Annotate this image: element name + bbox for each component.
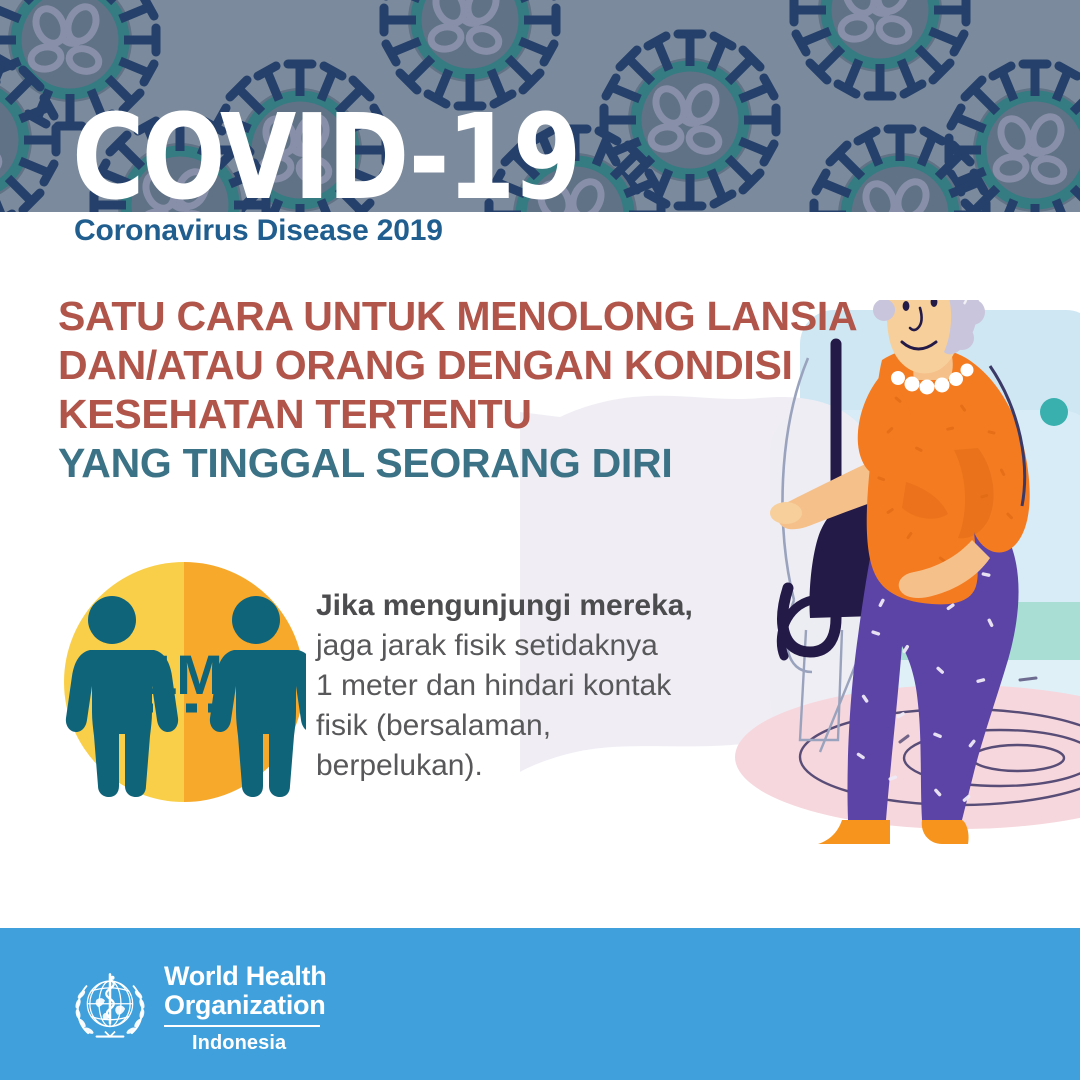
who-country: Indonesia (164, 1032, 326, 1054)
headline-line-4: YANG TINGGAL SEORANG DIRI (58, 439, 918, 488)
who-divider (164, 1025, 320, 1027)
physical-distancing-icon: 1M (62, 560, 306, 804)
body-line-3: 1 meter dan hindari kontak (316, 666, 746, 706)
headline-block: SATU CARA UNTUK MENOLONG LANSIA DAN/ATAU… (58, 292, 918, 488)
covid-subtitle: Coronavirus Disease 2019 (74, 214, 443, 248)
headline-line-3: KESEHATAN TERTENTU (58, 390, 918, 439)
body-line-5: berpelukan). (316, 746, 746, 786)
who-line-1: World Health (164, 962, 326, 991)
covid-title: COVID-19 (72, 102, 579, 212)
body-line-1: Jika mengunjungi mereka, (316, 586, 746, 626)
who-emblem (68, 966, 152, 1050)
shoes (818, 820, 969, 844)
body-line-2: jaga jarak fisik setidaknya (316, 626, 746, 666)
headline-line-2: DAN/ATAU ORANG DENGAN KONDISI (58, 341, 918, 390)
header-band: COVID-19 (0, 0, 1080, 212)
body-line-4: fisik (bersalaman, (316, 706, 746, 746)
who-logo: World Health Organization Indonesia (68, 962, 326, 1054)
who-wordmark: World Health Organization Indonesia (164, 962, 326, 1054)
headline-line-1: SATU CARA UNTUK MENOLONG LANSIA (58, 292, 918, 341)
who-line-2: Organization (164, 991, 326, 1020)
poster-canvas: COVID-19 Coronavirus Disease 2019 (0, 0, 1080, 1080)
distance-label: 1M (146, 643, 222, 706)
body-copy-block: Jika mengunjungi mereka, jaga jarak fisi… (316, 586, 746, 786)
